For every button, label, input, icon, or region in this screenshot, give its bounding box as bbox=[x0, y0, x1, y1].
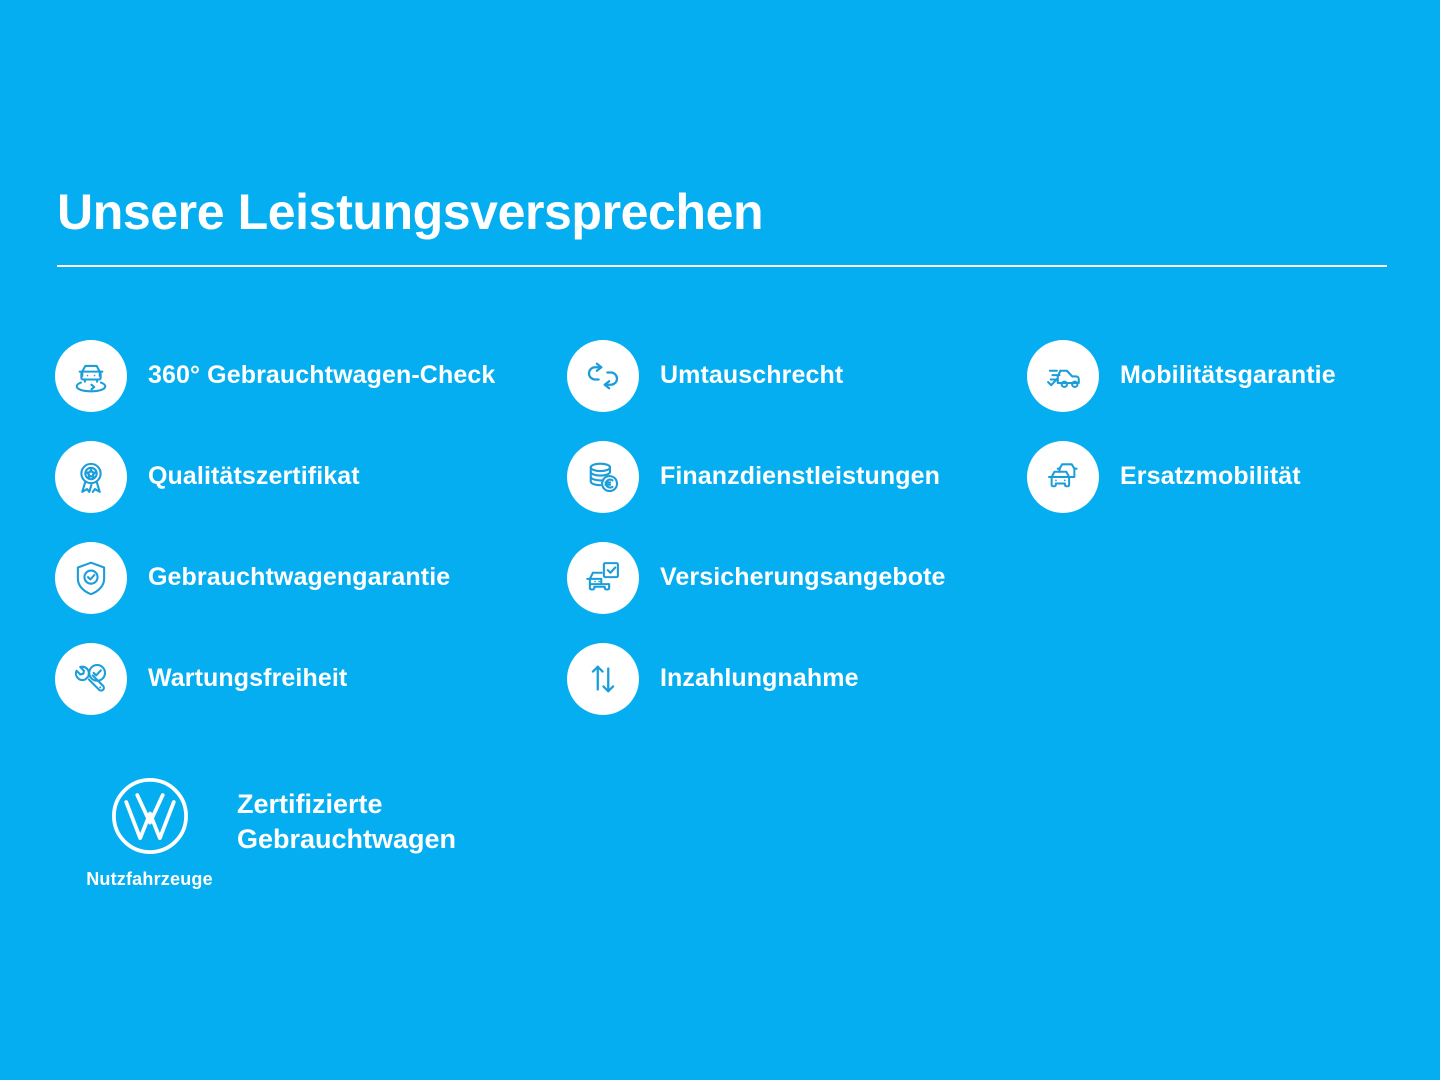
feature-grid: 360° Gebrauchtwagen-Check Umtauschrecht bbox=[55, 340, 1395, 744]
feature-label: Mobilitätsgarantie bbox=[1120, 362, 1336, 390]
brand-sub-label: Nutzfahrzeuge bbox=[86, 869, 213, 890]
brand-lockup: Nutzfahrzeuge Zertifizierte Gebrauchtwag… bbox=[62, 775, 456, 890]
brand-claim: Zertifizierte Gebrauchtwagen bbox=[237, 775, 456, 856]
shield-check-icon bbox=[55, 542, 127, 614]
feature-label: Gebrauchtwagengarantie bbox=[148, 564, 450, 592]
feature-label: 360° Gebrauchtwagen-Check bbox=[148, 362, 495, 390]
brand-claim-line1: Zertifizierte bbox=[237, 787, 456, 822]
feature-label: Wartungsfreiheit bbox=[148, 665, 347, 693]
wrench-check-icon bbox=[55, 643, 127, 715]
car-checkbox-icon bbox=[567, 542, 639, 614]
exchange-arrows-icon bbox=[567, 340, 639, 412]
feature-item-qualitaetszertifikat[interactable]: Qualitätszertifikat bbox=[55, 441, 567, 513]
feature-label: Qualitätszertifikat bbox=[148, 463, 360, 491]
feature-item-umtauschrecht[interactable]: Umtauschrecht bbox=[567, 340, 1027, 412]
car-360-check-icon bbox=[55, 340, 127, 412]
slide-canvas: Unsere Leistungsversprechen 360° Gebrauc… bbox=[0, 0, 1440, 1080]
header: Unsere Leistungsversprechen bbox=[57, 186, 1387, 267]
feature-label: Versicherungsangebote bbox=[660, 564, 946, 592]
page-title: Unsere Leistungsversprechen bbox=[57, 186, 1387, 239]
feature-label: Finanzdienstleistungen bbox=[660, 463, 940, 491]
feature-item-versicherungsangebote[interactable]: Versicherungsangebote bbox=[567, 542, 1027, 614]
feature-item-wartungsfreiheit[interactable]: Wartungsfreiheit bbox=[55, 643, 567, 715]
feature-item-ersatzmobilitaet[interactable]: Ersatzmobilität bbox=[1027, 441, 1395, 513]
title-divider bbox=[57, 265, 1387, 267]
two-cars-icon bbox=[1027, 441, 1099, 513]
feature-item-360-gebrauchtwagen-check[interactable]: 360° Gebrauchtwagen-Check bbox=[55, 340, 567, 412]
up-down-arrows-icon bbox=[567, 643, 639, 715]
coin-stack-euro-icon bbox=[567, 441, 639, 513]
feature-item-finanzdienstleistungen[interactable]: Finanzdienstleistungen bbox=[567, 441, 1027, 513]
feature-label: Ersatzmobilität bbox=[1120, 463, 1301, 491]
feature-item-mobilitaetsgarantie[interactable]: Mobilitätsgarantie bbox=[1027, 340, 1395, 412]
award-rosette-icon bbox=[55, 441, 127, 513]
car-speed-check-icon bbox=[1027, 340, 1099, 412]
feature-label: Umtauschrecht bbox=[660, 362, 843, 390]
feature-item-inzahlungnahme[interactable]: Inzahlungnahme bbox=[567, 643, 1027, 715]
feature-label: Inzahlungnahme bbox=[660, 665, 859, 693]
brand-claim-line2: Gebrauchtwagen bbox=[237, 822, 456, 857]
brand-mark: Nutzfahrzeuge bbox=[62, 775, 237, 890]
vw-logo-icon bbox=[109, 775, 191, 857]
feature-item-gebrauchtwagengarantie[interactable]: Gebrauchtwagengarantie bbox=[55, 542, 567, 614]
